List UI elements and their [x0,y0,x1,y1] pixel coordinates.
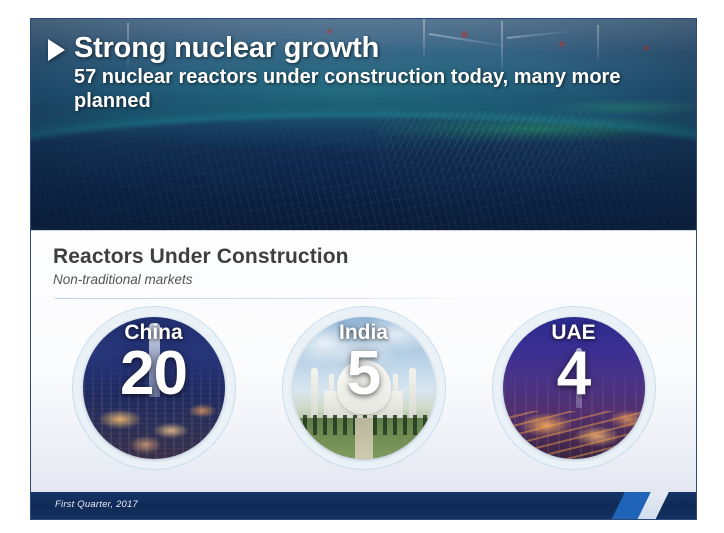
country-circle-uae: UAE 4 [493,307,655,469]
panel-title: Reactors Under Construction [53,245,349,269]
reactor-count: 20 [73,343,235,405]
hero-banner: Strong nuclear growth 57 nuclear reactor… [31,19,696,230]
panel-subtitle: Non-traditional markets [53,272,349,287]
country-circles-row: China 20 [31,307,696,469]
slide-subtitle: 57 nuclear reactors under construction t… [74,66,676,113]
hero-title-block: Strong nuclear growth 57 nuclear reactor… [48,33,676,113]
content-panel: Reactors Under Construction Non-traditio… [31,230,696,492]
presentation-slide: Strong nuclear growth 57 nuclear reactor… [30,18,697,520]
reactor-count: 4 [493,343,655,405]
header-divider [55,298,495,299]
garden-path [355,418,373,459]
page-canvas: Strong nuclear growth 57 nuclear reactor… [0,0,724,533]
slide-title: Strong nuclear growth [74,33,379,64]
country-circle-india: India 5 [283,307,445,469]
triangle-right-icon [48,39,65,61]
slide-footer: First Quarter, 2017 4 [31,492,696,519]
slide-page-number: 4 [677,498,684,512]
hero-title-row: Strong nuclear growth [48,33,676,64]
footer-date-label: First Quarter, 2017 [55,499,138,510]
highway-lights-texture [503,411,645,459]
country-circle-china: China 20 [73,307,235,469]
panel-header: Reactors Under Construction Non-traditio… [53,245,349,287]
reactor-count: 5 [283,343,445,405]
